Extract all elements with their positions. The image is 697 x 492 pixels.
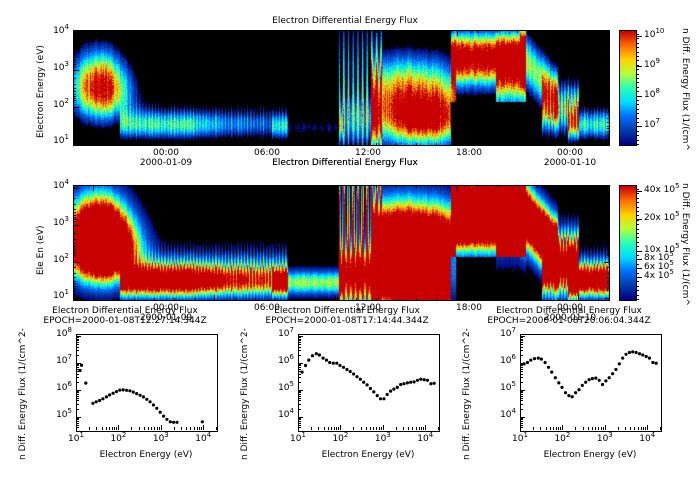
spectra-row: Electron Differential Energy FluxEPOCH=2…	[0, 306, 697, 492]
colorbar-minor-tick	[636, 69, 639, 70]
spectrum-yminor-tick	[76, 374, 79, 375]
spectrum-yminor-tick	[298, 367, 301, 368]
spectrum-xminor-tick	[159, 427, 160, 430]
spectrum-xminor-tick	[181, 427, 182, 430]
spectrum-ytick-label: 107	[484, 329, 516, 339]
spectrum-yminor-tick	[520, 364, 523, 365]
xaxis-time-label: 00:00	[146, 148, 186, 158]
spectrum-yminor-tick	[520, 404, 523, 405]
colorbar-minor-tick	[636, 229, 639, 230]
spectrum-xminor-tick	[324, 427, 325, 430]
spectrum-ylabel: n Diff. Energy Flux (1/(cm^2-	[18, 328, 28, 460]
colorbar-minor-tick	[636, 43, 639, 44]
spectrum-xminor-tick	[595, 427, 596, 430]
spectrum-xminor-tick	[334, 427, 335, 430]
xaxis-time-label: 12:00	[348, 148, 388, 158]
spectrum-panel: Electron Differential Energy FluxEPOCH=2…	[444, 306, 697, 492]
spectrum-xminor-tick	[197, 427, 198, 430]
spectrum-yminor-tick	[298, 339, 301, 340]
spectrum-xminor-tick	[558, 427, 559, 430]
spectrum-yminor-tick	[520, 382, 523, 383]
spectrum-xminor-tick	[643, 427, 644, 430]
spectrum-xminor-tick	[634, 427, 635, 430]
spectrum-xminor-tick	[328, 427, 329, 430]
spectrum-ytick-label: 104	[484, 410, 516, 420]
spectrum-ytick-label: 106	[262, 356, 294, 366]
spectrum-xminor-tick	[408, 427, 409, 430]
spectrum-xtick-mark	[340, 425, 341, 430]
spectrum-xminor-tick	[556, 427, 557, 430]
colorbar-minor-tick	[636, 126, 639, 127]
spectrum-yminor-tick	[520, 350, 523, 351]
spectrum-yminor-tick	[76, 396, 79, 397]
spectrum-xminor-tick	[102, 427, 103, 430]
colorbar-minor-tick	[636, 251, 639, 252]
colorbar-tick-mark	[636, 66, 642, 67]
colorbar-minor-tick	[636, 295, 639, 296]
spectrum-yminor-tick	[298, 365, 301, 366]
spectrum-xminor-tick	[201, 427, 202, 430]
spectrum-title: Electron Differential Energy Flux	[232, 306, 462, 316]
spectrum-xtick-mark	[383, 425, 384, 430]
spectrum-xminor-tick	[598, 427, 599, 430]
spectrum-ytick-label: 104	[262, 410, 294, 420]
top-ylabel: Electron Energy (eV)	[36, 45, 46, 138]
colorbar-minor-tick	[636, 189, 639, 190]
spectrum-xminor-tick	[403, 427, 404, 430]
spectrum-yminor-tick	[76, 339, 79, 340]
spectrum-yminor-tick	[298, 409, 301, 410]
spectrum-yminor-tick	[520, 419, 523, 420]
colorbar-minor-tick	[636, 193, 639, 194]
spectrum-yminor-tick	[298, 398, 301, 399]
spectrum-xminor-tick	[396, 427, 397, 430]
spectrum-yminor-tick	[520, 369, 523, 370]
spectrum-xminor-tick	[645, 427, 646, 430]
spectrum-xtick-mark	[298, 425, 299, 430]
spectrum-yminor-tick	[76, 421, 79, 422]
spectrum-yminor-tick	[298, 371, 301, 372]
spectrum-xminor-tick	[311, 427, 312, 430]
colorbar-tick-mark	[636, 191, 642, 192]
colorbar-minor-tick	[636, 242, 639, 243]
spectrum-xminor-tick	[660, 427, 661, 430]
spectrum-yminor-tick	[298, 418, 301, 419]
spectrum-xminor-tick	[630, 427, 631, 430]
spectrum-xminor-tick	[216, 427, 217, 430]
spectrum-xminor-tick	[154, 427, 155, 430]
spectrum-yminor-tick	[520, 392, 523, 393]
spectrum-panel: Electron Differential Energy FluxEPOCH=2…	[0, 306, 253, 492]
top-colorbar-label: n Diff. Energy Flux (1/(cm^	[680, 28, 690, 151]
spectrum-yminor-tick	[76, 365, 79, 366]
spectrum-xminor-tick	[560, 427, 561, 430]
spectrum-xtick-mark	[605, 425, 606, 430]
spectrum-yminor-tick	[298, 391, 301, 392]
colorbar-tick-mark	[636, 36, 642, 37]
spectrum-ytick-label: 107	[262, 329, 294, 339]
spectrum-xtick-label: 103	[367, 434, 399, 444]
colorbar-minor-tick	[636, 144, 639, 145]
spectrum-yminor-tick	[76, 394, 79, 395]
spectrum-ylabel: n Diff. Energy Flux (1/(cm^2-	[462, 328, 472, 460]
spectrum-xminor-tick	[174, 427, 175, 430]
spectrum-ylabel: n Diff. Energy Flux (1/(cm^2-	[240, 328, 250, 460]
spectrum-yminor-tick	[520, 365, 523, 366]
colorbar-minor-tick	[636, 113, 639, 114]
spectrum-yminor-tick	[298, 364, 301, 365]
colorbar-minor-tick	[636, 273, 639, 274]
spectrum-xminor-tick	[592, 427, 593, 430]
colorbar-tick-label: 109	[644, 60, 660, 70]
spectrum-xtick-label: 103	[589, 434, 621, 444]
spectrum-panel: Electron Differential Energy FluxEPOCH=2…	[222, 306, 475, 492]
spectrum-xminor-tick	[416, 427, 417, 430]
colorbar-minor-tick	[636, 60, 639, 61]
spectrum-yminor-tick	[520, 377, 523, 378]
spectrum-yminor-tick	[76, 391, 79, 392]
colorbar-minor-tick	[636, 264, 639, 265]
yaxis-tick-label: 101	[53, 136, 69, 146]
spectrum-xtick-label: 101	[60, 434, 92, 444]
spectrum-ytick-label: 105	[262, 383, 294, 393]
spectrum-xtick-label: 102	[324, 434, 356, 444]
spectrum-xminor-tick	[148, 427, 149, 430]
spectrum-yminor-tick	[76, 409, 79, 410]
spectrum-xminor-tick	[540, 427, 541, 430]
colorbar-minor-tick	[636, 104, 639, 105]
spectrum-xtick-mark	[118, 425, 119, 430]
colorbar-minor-tick	[636, 65, 639, 66]
spectrum-yminor-tick	[298, 374, 301, 375]
colorbar-minor-tick	[636, 96, 639, 97]
spectrum-yminor-tick	[76, 369, 79, 370]
colorbar-minor-tick	[636, 259, 639, 260]
spectrum-yminor-tick	[76, 418, 79, 419]
spectrum-yminor-tick	[520, 367, 523, 368]
spectrum-xminor-tick	[318, 427, 319, 430]
spectrum-yminor-tick	[520, 421, 523, 422]
spectrum-yminor-tick	[520, 337, 523, 338]
spectrum-yminor-tick	[76, 340, 79, 341]
spectrum-xtick-mark	[425, 425, 426, 430]
spectrum-xminor-tick	[553, 427, 554, 430]
colorbar-minor-tick	[636, 78, 639, 79]
spectrum-xminor-tick	[361, 427, 362, 430]
middle-spectrogram[interactable]	[73, 185, 610, 301]
spectrum-xminor-tick	[546, 427, 547, 430]
spectrum-xminor-tick	[412, 427, 413, 430]
spectrum-xminor-tick	[151, 427, 152, 430]
spectrum-yminor-tick	[298, 404, 301, 405]
spectrum-yminor-tick	[298, 342, 301, 343]
spectrum-yminor-tick	[76, 392, 79, 393]
spectrum-yminor-tick	[520, 340, 523, 341]
spectrum-yminor-tick	[76, 342, 79, 343]
spectrum-xminor-tick	[190, 427, 191, 430]
spectrum-yminor-tick	[520, 344, 523, 345]
colorbar-minor-tick	[636, 211, 639, 212]
colorbar-tick-label: 40x 105	[644, 185, 680, 195]
colorbar-minor-tick	[636, 215, 639, 216]
spectrum-yminor-tick	[76, 404, 79, 405]
spectrum-xminor-tick	[157, 427, 158, 430]
colorbar-minor-tick	[636, 224, 639, 225]
yaxis-tick-label: 102	[53, 100, 69, 110]
spectrum-xtick-label: 102	[546, 434, 578, 444]
colorbar-tick-label: 107	[644, 120, 660, 130]
spectrum-xtick-mark	[562, 425, 563, 430]
spectrum-yminor-tick	[520, 394, 523, 395]
spectrum-points	[298, 334, 438, 430]
spectrum-yminor-tick	[76, 344, 79, 345]
spectrum-yminor-tick	[76, 367, 79, 368]
spectrum-title: Electron Differential Energy Flux	[10, 306, 240, 316]
spectrum-xminor-tick	[618, 427, 619, 430]
colorbar-minor-tick	[636, 281, 639, 282]
spectrum-yminor-tick	[298, 355, 301, 356]
colorbar-minor-tick	[636, 131, 639, 132]
colorbar-minor-tick	[636, 118, 639, 119]
spectrum-xminor-tick	[199, 427, 200, 430]
spectrum-yminor-tick	[520, 342, 523, 343]
spectrum-xlabel: Electron Energy (eV)	[490, 450, 690, 460]
spectrum-xminor-tick	[194, 427, 195, 430]
spectrum-xminor-tick	[89, 427, 90, 430]
spectrum-xminor-tick	[373, 427, 374, 430]
colorbar-minor-tick	[636, 286, 639, 287]
spectrum-yminor-tick	[520, 347, 523, 348]
xaxis-time-label: 06:00	[247, 148, 287, 158]
spectrum-xminor-tick	[641, 427, 642, 430]
spectrum-ytick-label: 106	[484, 356, 516, 366]
spectrum-xminor-tick	[419, 427, 420, 430]
middle-panel-title: Electron Differential Energy Flux	[180, 158, 510, 168]
spectrum-xminor-tick	[336, 427, 337, 430]
spectrum-yminor-tick	[298, 394, 301, 395]
spectrum-xminor-tick	[550, 427, 551, 430]
colorbar-minor-tick	[636, 34, 639, 35]
spectrum-yminor-tick	[76, 423, 79, 424]
spectrum-xminor-tick	[533, 427, 534, 430]
spectrum-epoch: EPOCH=2000-01-08T17:14:44.344Z	[232, 316, 462, 326]
spectrum-xtick-mark	[520, 425, 521, 430]
spectrum-yminor-tick	[520, 418, 523, 419]
colorbar-minor-tick	[636, 198, 639, 199]
spectrum-yminor-tick	[76, 350, 79, 351]
spectrum-xminor-tick	[353, 427, 354, 430]
colorbar-tick-label: 4x 105	[644, 271, 674, 281]
spectrum-yminor-tick	[298, 400, 301, 401]
top-colorbar	[619, 30, 637, 146]
spectrum-xminor-tick	[116, 427, 117, 430]
yaxis-tick-label: 103	[53, 63, 69, 73]
spectrum-xminor-tick	[370, 427, 371, 430]
xaxis-time-label: 18:00	[449, 148, 489, 158]
spectrum-points	[520, 334, 660, 430]
spectrum-ytick-label: 107	[40, 356, 72, 366]
spectrum-yminor-tick	[298, 423, 301, 424]
spectrum-xminor-tick	[106, 427, 107, 430]
middle-ylabel: Ele En (eV)	[36, 225, 46, 275]
colorbar-minor-tick	[636, 100, 639, 101]
spectrum-yminor-tick	[520, 423, 523, 424]
spectrum-xtick-label: 104	[409, 434, 441, 444]
spectrum-ytick-label: 105	[40, 410, 72, 420]
spectrum-yminor-tick	[298, 396, 301, 397]
colorbar-minor-tick	[636, 47, 639, 48]
spectrum-xminor-tick	[625, 427, 626, 430]
spectrum-xminor-tick	[144, 427, 145, 430]
spectrum-xtick-label: 103	[145, 434, 177, 444]
yaxis-tick-label: 103	[53, 218, 69, 228]
spectrum-xminor-tick	[603, 427, 604, 430]
spectrum-yminor-tick	[298, 421, 301, 422]
spectrum-xtick-mark	[203, 425, 204, 430]
spectrum-yminor-tick	[520, 371, 523, 372]
spectrum-yminor-tick	[298, 392, 301, 393]
spectrum-points	[76, 334, 216, 430]
spectrum-yminor-tick	[76, 398, 79, 399]
colorbar-minor-tick	[636, 220, 639, 221]
spectrum-yminor-tick	[298, 344, 301, 345]
colorbar-minor-tick	[636, 122, 639, 123]
spectrum-yminor-tick	[76, 364, 79, 365]
colorbar-minor-tick	[636, 268, 639, 269]
spectrum-yminor-tick	[76, 355, 79, 356]
yaxis-tick-label: 101	[53, 291, 69, 301]
spectrum-yminor-tick	[298, 337, 301, 338]
spectrum-yminor-tick	[76, 371, 79, 372]
spectrum-yminor-tick	[520, 355, 523, 356]
spectrum-xlabel: Electron Energy (eV)	[268, 450, 468, 460]
colorbar-minor-tick	[636, 135, 639, 136]
colorbar-tick-label: 108	[644, 90, 660, 100]
top-colorbar-label-wrap: n Diff. Energy Flux (1/(cm^	[681, 28, 697, 38]
colorbar-minor-tick	[636, 246, 639, 247]
spectrum-epoch: EPOCH=2000-01-08T20:06:04.344Z	[454, 316, 684, 326]
spectrum-xtick-label: 104	[187, 434, 219, 444]
colorbar-minor-tick	[636, 52, 639, 53]
spectrum-xtick-mark	[161, 425, 162, 430]
colorbar-minor-tick	[636, 299, 639, 300]
spectrum-xminor-tick	[131, 427, 132, 430]
spectrum-yminor-tick	[520, 396, 523, 397]
spectrum-xtick-mark	[76, 425, 77, 430]
spectrum-xlabel: Electron Energy (eV)	[46, 450, 246, 460]
middle-colorbar	[619, 185, 637, 301]
top-spectrogram[interactable]	[73, 30, 610, 146]
spectrum-yminor-tick	[298, 377, 301, 378]
middle-colorbar-label-wrap: n Diff. Energy Flux (1/(cm^	[681, 183, 697, 193]
spectrum-title: Electron Differential Energy Flux	[454, 306, 684, 316]
spectrum-yminor-tick	[298, 369, 301, 370]
spectrum-ytick-label: 108	[40, 329, 72, 339]
spectrum-yminor-tick	[520, 400, 523, 401]
spectrum-xminor-tick	[421, 427, 422, 430]
spectrum-xminor-tick	[575, 427, 576, 430]
spectrum-xminor-tick	[96, 427, 97, 430]
colorbar-minor-tick	[636, 277, 639, 278]
top-panel-title: Electron Differential Energy Flux	[180, 16, 510, 26]
spectrum-yminor-tick	[298, 419, 301, 420]
spectrum-xminor-tick	[583, 427, 584, 430]
spectrum-yminor-tick	[76, 419, 79, 420]
spectrum-xminor-tick	[338, 427, 339, 430]
middle-ylabel-wrap: Ele En (eV)	[26, 185, 76, 195]
spectrum-yminor-tick	[76, 382, 79, 383]
colorbar-tick-label: 1010	[644, 30, 664, 40]
colorbar-minor-tick	[636, 140, 639, 141]
spectrum-yminor-tick	[520, 409, 523, 410]
colorbar-minor-tick	[636, 87, 639, 88]
spectrum-ytick-label: 105	[484, 383, 516, 393]
spectrum-xminor-tick	[186, 427, 187, 430]
colorbar-minor-tick	[636, 255, 639, 256]
spectrum-xminor-tick	[438, 427, 439, 430]
xaxis-date-right: 2000-01-10	[540, 158, 600, 168]
spectrum-yminor-tick	[520, 339, 523, 340]
spectrum-yminor-tick	[76, 347, 79, 348]
spectrum-xminor-tick	[376, 427, 377, 430]
spectrum-xtick-label: 102	[102, 434, 134, 444]
spectrum-xminor-tick	[139, 427, 140, 430]
spectrum-yminor-tick	[298, 340, 301, 341]
spectrum-yminor-tick	[76, 377, 79, 378]
colorbar-minor-tick	[636, 207, 639, 208]
colorbar-tick-label: 20x 105	[644, 213, 680, 223]
spectrum-xminor-tick	[379, 427, 380, 430]
spectrum-xminor-tick	[601, 427, 602, 430]
spectrum-xminor-tick	[114, 427, 115, 430]
spectrum-yminor-tick	[520, 398, 523, 399]
spectrum-xminor-tick	[423, 427, 424, 430]
yaxis-tick-label: 102	[53, 255, 69, 265]
colorbar-minor-tick	[636, 109, 639, 110]
spectrum-yminor-tick	[298, 350, 301, 351]
spectrum-yminor-tick	[520, 374, 523, 375]
spectrum-xtick-mark	[647, 425, 648, 430]
colorbar-minor-tick	[636, 202, 639, 203]
colorbar-minor-tick	[636, 290, 639, 291]
spectrum-xtick-label: 101	[504, 434, 536, 444]
spectrum-xminor-tick	[381, 427, 382, 430]
spectrum-yminor-tick	[76, 400, 79, 401]
colorbar-minor-tick	[636, 82, 639, 83]
spectrum-xminor-tick	[638, 427, 639, 430]
spectrum-xminor-tick	[331, 427, 332, 430]
colorbar-minor-tick	[636, 74, 639, 75]
spectrum-xminor-tick	[366, 427, 367, 430]
colorbar-minor-tick	[636, 237, 639, 238]
colorbar-minor-tick	[636, 91, 639, 92]
spectrum-yminor-tick	[76, 337, 79, 338]
colorbar-minor-tick	[636, 56, 639, 57]
spectrum-ytick-label: 106	[40, 383, 72, 393]
colorbar-minor-tick	[636, 233, 639, 234]
spectrum-yminor-tick	[520, 391, 523, 392]
colorbar-minor-tick	[636, 38, 639, 39]
spectrum-yminor-tick	[298, 382, 301, 383]
spectrum-xtick-label: 101	[282, 434, 314, 444]
middle-colorbar-label: n Diff. Energy Flux (1/(cm^	[680, 183, 690, 306]
xaxis-time-label: 00:00	[550, 148, 590, 158]
spectrum-yminor-tick	[298, 347, 301, 348]
spectrum-epoch: EPOCH=2000-01-08T12:27:14.344Z	[10, 316, 240, 326]
spectrum-xminor-tick	[109, 427, 110, 430]
spectrum-xminor-tick	[588, 427, 589, 430]
spectrum-xminor-tick	[112, 427, 113, 430]
